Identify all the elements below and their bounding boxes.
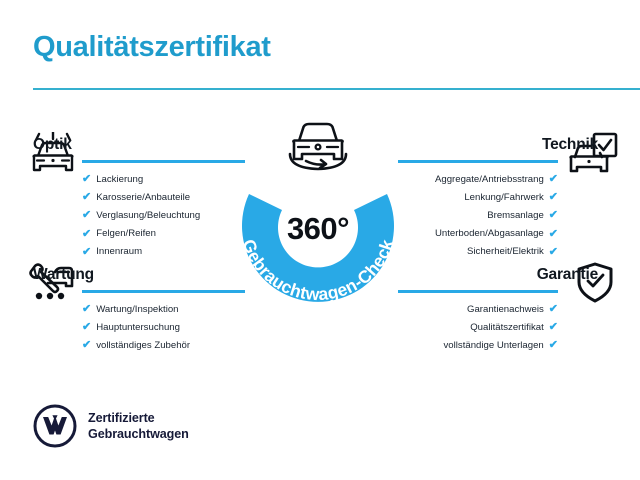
section-optik: Optik ✔ Lackierung ✔ Karosserie/Anbautei…: [33, 130, 245, 265]
list-item: ✔ Innenraum: [82, 247, 245, 258]
check-icon: ✔: [82, 174, 91, 185]
list-item: ✔ vollständiges Zubehör: [82, 340, 245, 351]
check-icon: ✔: [549, 174, 558, 185]
list-item-label: Lackierung: [96, 175, 143, 185]
list-item-label: Karosserie/Anbauteile: [96, 193, 190, 203]
check-icon: ✔: [549, 322, 558, 333]
vw-logo-icon: [33, 404, 77, 448]
list-item-label: Hauptuntersuchung: [96, 323, 180, 333]
check-icon: ✔: [549, 304, 558, 315]
check-icon: ✔: [82, 192, 91, 203]
checklist-wartung: ✔ Wartung/Inspektion ✔ Hauptuntersuchung…: [82, 304, 245, 351]
section-divider-wartung: [82, 290, 245, 293]
check-icon: ✔: [82, 229, 91, 240]
list-item-label: Qualitätszertifikat: [470, 323, 544, 333]
footer-line-1: Zertifizierte: [88, 410, 189, 426]
section-divider-optik: [82, 160, 245, 163]
list-item: vollständige Unterlagen ✔: [386, 340, 558, 351]
title-divider: [33, 88, 640, 90]
check-icon: ✔: [549, 229, 558, 240]
list-item-label: Lenkung/Fahrwerk: [464, 193, 543, 203]
list-item: ✔ Lackierung: [82, 174, 245, 185]
check-icon: ✔: [82, 304, 91, 315]
section-divider-garantie: [398, 290, 558, 293]
footer-logo-text: Zertifizierte Gebrauchtwagen: [88, 410, 189, 442]
section-technik: Technik Aggregate/Antriebsstrang ✔ Lenku…: [386, 130, 598, 265]
list-item: ✔ Felgen/Reifen: [82, 229, 245, 240]
section-header-optik: Optik: [33, 130, 245, 160]
list-item-label: Garantienachweis: [467, 305, 544, 315]
car-rotate-icon: [282, 114, 354, 176]
footer-line-2: Gebrauchtwagen: [88, 426, 189, 442]
section-title-wartung: Wartung: [33, 266, 94, 284]
section-header-garantie: Garantie: [386, 260, 598, 290]
footer-logo: Zertifizierte Gebrauchtwagen: [33, 404, 189, 448]
list-item: ✔ Hauptuntersuchung: [82, 322, 245, 333]
check-icon: ✔: [82, 247, 91, 258]
list-item-label: Unterboden/Abgasanlage: [435, 229, 544, 239]
list-item-label: Wartung/Inspektion: [96, 305, 178, 315]
checklist-optik: ✔ Lackierung ✔ Karosserie/Anbauteile ✔ V…: [82, 174, 245, 258]
section-wartung: Wartung ✔ Wartung/Inspektion ✔ Hauptunte…: [33, 260, 245, 359]
list-item: Qualitätszertifikat ✔: [386, 322, 558, 333]
check-icon: ✔: [82, 210, 91, 221]
check-icon: ✔: [82, 340, 91, 351]
check-icon: ✔: [82, 322, 91, 333]
list-item-label: Aggregate/Antriebsstrang: [435, 175, 544, 185]
check-icon: ✔: [549, 247, 558, 258]
page-title: Qualitätszertifikat: [33, 33, 271, 62]
list-item: ✔ Karosserie/Anbauteile: [82, 192, 245, 203]
check-icon: ✔: [549, 192, 558, 203]
list-item-label: Felgen/Reifen: [96, 229, 156, 239]
list-item-label: Sicherheit/Elektrik: [467, 247, 544, 257]
list-item-label: vollständige Unterlagen: [444, 341, 544, 351]
badge-360-gebrauchtwagen-check: Gebrauchtwagen-Check 360°: [224, 128, 412, 316]
certificate-page: Qualitätszertifikat Optik ✔: [0, 0, 640, 480]
section-title-garantie: Garantie: [537, 266, 598, 284]
section-garantie: Garantie Garantienachweis ✔ Qualitätszer…: [386, 260, 598, 359]
section-title-technik: Technik: [542, 136, 598, 154]
section-header-technik: Technik: [386, 130, 598, 160]
list-item-label: Verglasung/Beleuchtung: [96, 211, 200, 221]
section-divider-technik: [398, 160, 558, 163]
list-item: ✔ Wartung/Inspektion: [82, 304, 245, 315]
list-item-label: Innenraum: [96, 247, 142, 257]
section-title-optik: Optik: [33, 136, 72, 154]
check-icon: ✔: [549, 340, 558, 351]
list-item-label: vollständiges Zubehör: [96, 341, 190, 351]
list-item: ✔ Verglasung/Beleuchtung: [82, 210, 245, 221]
section-header-wartung: Wartung: [33, 260, 245, 290]
list-item-label: Bremsanlage: [487, 211, 544, 221]
check-icon: ✔: [549, 210, 558, 221]
